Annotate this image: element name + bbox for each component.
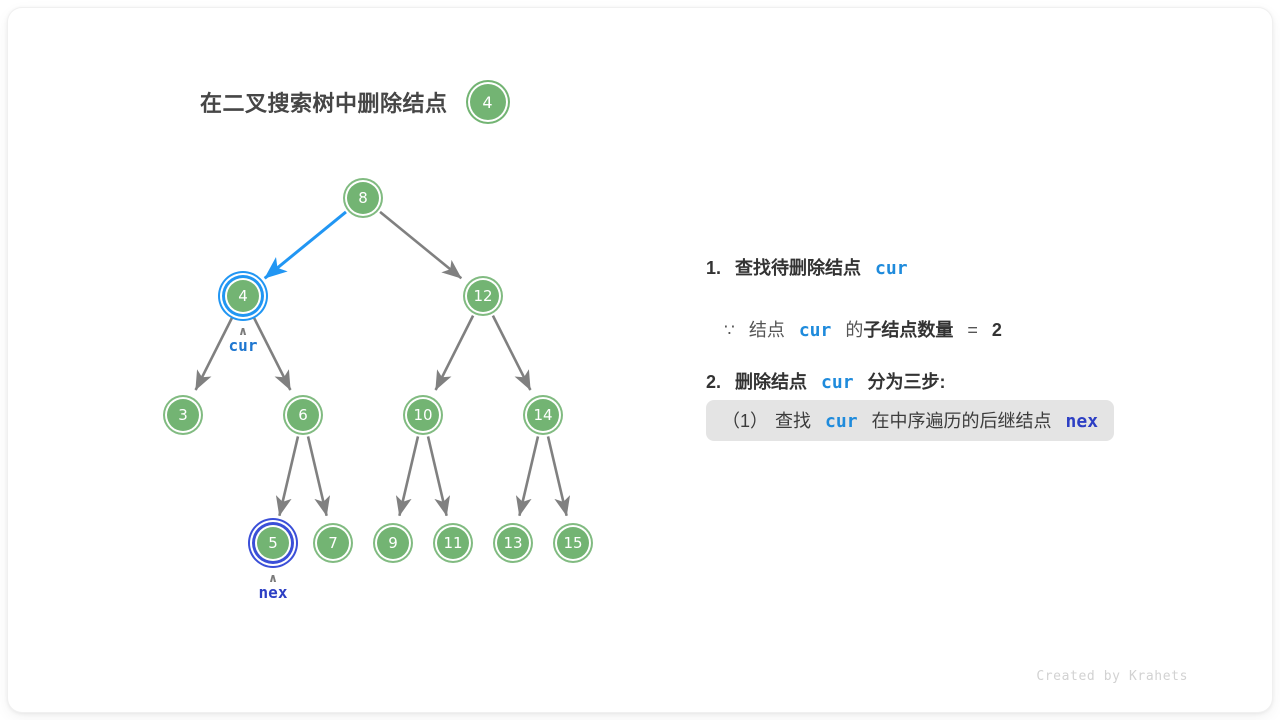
substep-1-var-cur: cur [825, 411, 858, 432]
binary-search-tree-diagram: 8412361014579111315 ∧cur∧nex [8, 8, 668, 712]
step-2-number: 2. [706, 372, 721, 392]
step-2-suffix: 分为三步: [868, 372, 946, 392]
explanation-panel: 1.查找待删除结点cur ∵结点cur的子结点数量=2 2.删除结点cur分为三… [706, 254, 1246, 441]
tree-edge [279, 436, 298, 515]
reason-prefix: 结点 [749, 320, 785, 340]
pointer-label-cur: ∧cur [229, 326, 258, 355]
tree-edge [436, 316, 473, 390]
tree-node-3: 3 [165, 397, 201, 433]
tree-edge [253, 316, 290, 390]
pointer-text: cur [229, 336, 258, 355]
substep-1-mid: 在中序遍历的后继结点 [872, 411, 1052, 431]
pointer-text: nex [259, 583, 288, 602]
step-1-line: 1.查找待删除结点cur [706, 254, 1246, 280]
step-1-text: 查找待删除结点 [735, 258, 861, 278]
reason-mid: 的 [845, 320, 863, 340]
tree-edge [399, 436, 418, 515]
reason-strong: 子结点数量 [863, 320, 953, 340]
diagram-card: 在二叉搜索树中删除结点 4 8412361014579111315 ∧cur∧n… [8, 8, 1272, 712]
tree-node-7: 7 [315, 525, 351, 561]
step-2-var: cur [821, 372, 854, 393]
reason-line: ∵结点cur的子结点数量=2 [706, 316, 1246, 342]
tree-edge [428, 436, 447, 515]
tree-node-8: 8 [345, 180, 381, 216]
substep-1-var-nex: nex [1066, 411, 1099, 432]
reason-value: 2 [992, 320, 1002, 340]
substep-1-index: （1） [722, 411, 768, 431]
tree-node-15: 15 [555, 525, 591, 561]
tree-edge [265, 212, 346, 278]
tree-edges-layer [8, 8, 668, 712]
tree-node-10: 10 [405, 397, 441, 433]
tree-node-14: 14 [525, 397, 561, 433]
tree-edge [548, 436, 567, 515]
tree-node-9: 9 [375, 525, 411, 561]
tree-node-12: 12 [465, 278, 501, 314]
tree-edge [519, 436, 538, 515]
tree-edge [196, 316, 233, 390]
substep-1-verb: 查找 [775, 411, 811, 431]
pointer-label-nex: ∧nex [259, 573, 288, 602]
substep-1-highlight-row: （1）查找cur在中序遍历的后继结点nex [706, 400, 1114, 441]
tree-node-5: 5 [255, 525, 291, 561]
tree-node-13: 13 [495, 525, 531, 561]
tree-node-6: 6 [285, 397, 321, 433]
tree-edge [493, 316, 530, 390]
reason-var: cur [799, 320, 832, 341]
tree-edge [308, 436, 327, 515]
because-symbol: ∵ [724, 321, 735, 340]
step-2-prefix: 删除结点 [735, 372, 807, 392]
step-1-var: cur [875, 258, 908, 279]
tree-edge [380, 212, 461, 278]
caret-icon: ∧ [259, 573, 288, 583]
tree-node-4: 4 [225, 278, 261, 314]
reason-equals: = [967, 320, 978, 340]
step-1-number: 1. [706, 258, 721, 278]
step-2-line: 2.删除结点cur分为三步: [706, 368, 1246, 394]
credit-footer: Created by Krahets [1036, 669, 1188, 684]
caret-icon: ∧ [229, 326, 258, 336]
tree-node-11: 11 [435, 525, 471, 561]
